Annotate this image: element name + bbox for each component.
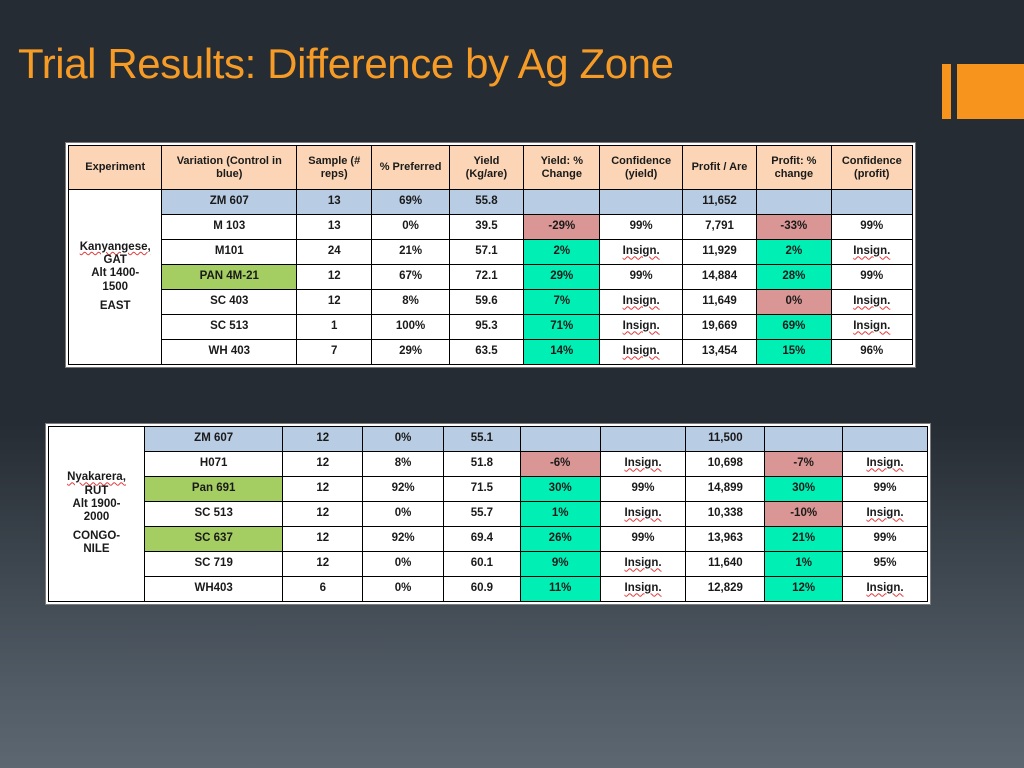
cell-yield-pct-change: 14% xyxy=(524,340,600,365)
cell-profit-per-are: 12,829 xyxy=(686,577,765,602)
cell-variation: WH 403 xyxy=(162,340,297,365)
cell-yield-pct-change: 9% xyxy=(520,552,600,577)
cell-percent-preferred: 92% xyxy=(363,477,444,502)
cell-yield: 69.4 xyxy=(444,527,521,552)
cell-variation: SC 513 xyxy=(162,315,297,340)
cell-percent-preferred: 0% xyxy=(363,502,444,527)
cell-yield-pct-change: 7% xyxy=(524,290,600,315)
cell-percent-preferred: 92% xyxy=(363,527,444,552)
cell-sample: 24 xyxy=(297,240,372,265)
cell-confidence-profit: Insign. xyxy=(831,240,912,265)
experiment-label-cell: Nyakarera,RUTAlt 1900-2000 CONGO-NILE xyxy=(49,427,145,602)
cell-profit-pct-change: 15% xyxy=(757,340,831,365)
cell-sample: 13 xyxy=(297,215,372,240)
cell-profit-per-are: 10,698 xyxy=(686,452,765,477)
cell-confidence-yield: Insign. xyxy=(600,290,682,315)
cell-profit-pct-change: 1% xyxy=(765,552,843,577)
cell-sample: 12 xyxy=(283,452,363,477)
cell-sample: 1 xyxy=(297,315,372,340)
cell-profit-per-are: 10,338 xyxy=(686,502,765,527)
column-header-9: Confidence (profit) xyxy=(831,146,912,190)
cell-confidence-yield: Insign. xyxy=(600,552,686,577)
cell-confidence-profit: Insign. xyxy=(831,315,912,340)
cell-confidence-yield: Insign. xyxy=(600,452,686,477)
cell-profit-per-are: 11,929 xyxy=(682,240,756,265)
cell-profit-per-are: 19,669 xyxy=(682,315,756,340)
slide-decoration xyxy=(942,64,1024,119)
cell-yield: 63.5 xyxy=(449,340,523,365)
cell-confidence-yield: 99% xyxy=(600,477,686,502)
cell-yield-pct-change: 71% xyxy=(524,315,600,340)
cell-yield: 95.3 xyxy=(449,315,523,340)
cell-sample: 12 xyxy=(297,290,372,315)
cell-sample: 12 xyxy=(283,477,363,502)
column-header-8: Profit: % change xyxy=(757,146,831,190)
column-header-4: Yield (Kg/are) xyxy=(449,146,523,190)
cell-yield-pct-change: 11% xyxy=(520,577,600,602)
cell-variation: Pan 691 xyxy=(144,477,282,502)
cell-confidence-profit: 96% xyxy=(831,340,912,365)
cell-confidence-profit: Insign. xyxy=(843,577,928,602)
cell-profit-pct-change: 30% xyxy=(765,477,843,502)
cell-sample: 12 xyxy=(283,552,363,577)
table-header-row: ExperimentVariation (Control in blue)Sam… xyxy=(69,146,913,190)
cell-confidence-yield: 99% xyxy=(600,527,686,552)
cell-confidence-yield: Insign. xyxy=(600,340,682,365)
table-row[interactable]: PAN 4M-211267%72.129%99%14,88428%99% xyxy=(69,265,913,290)
cell-yield-pct-change xyxy=(524,190,600,215)
table-row[interactable]: SC 6371292%69.426%99%13,96321%99% xyxy=(49,527,928,552)
cell-yield-pct-change xyxy=(520,427,600,452)
table-row[interactable]: SC 719120%60.19%Insign.11,6401%95% xyxy=(49,552,928,577)
cell-yield: 60.1 xyxy=(444,552,521,577)
cell-profit-per-are: 14,899 xyxy=(686,477,765,502)
table-row[interactable]: SC 403128%59.67%Insign.11,6490%Insign. xyxy=(69,290,913,315)
cell-confidence-yield xyxy=(600,427,686,452)
cell-confidence-yield xyxy=(600,190,682,215)
cell-profit-pct-change: -7% xyxy=(765,452,843,477)
table-row[interactable]: WH 403729%63.514%Insign.13,45415%96% xyxy=(69,340,913,365)
cell-percent-preferred: 21% xyxy=(372,240,449,265)
cell-yield-pct-change: 29% xyxy=(524,265,600,290)
cell-percent-preferred: 29% xyxy=(372,340,449,365)
cell-profit-per-are: 13,454 xyxy=(682,340,756,365)
cell-sample: 12 xyxy=(283,527,363,552)
cell-confidence-profit: 99% xyxy=(843,527,928,552)
cell-percent-preferred: 0% xyxy=(372,215,449,240)
cell-confidence-yield: 99% xyxy=(600,215,682,240)
cell-confidence-yield: Insign. xyxy=(600,577,686,602)
cell-confidence-profit: 99% xyxy=(831,215,912,240)
table-row[interactable]: Pan 6911292%71.530%99%14,89930%99% xyxy=(49,477,928,502)
cell-variation: WH403 xyxy=(144,577,282,602)
cell-yield-pct-change: -6% xyxy=(520,452,600,477)
experiment-label-cell: Kanyangese,GATAlt 1400-1500 EAST xyxy=(69,190,162,365)
cell-profit-pct-change xyxy=(765,427,843,452)
cell-yield-pct-change: 26% xyxy=(520,527,600,552)
cell-profit-per-are: 7,791 xyxy=(682,215,756,240)
cell-variation: SC 719 xyxy=(144,552,282,577)
cell-percent-preferred: 0% xyxy=(363,552,444,577)
cell-profit-pct-change xyxy=(757,190,831,215)
cell-profit-per-are: 11,652 xyxy=(682,190,756,215)
cell-yield: 60.9 xyxy=(444,577,521,602)
cell-profit-pct-change: 28% xyxy=(757,265,831,290)
cell-variation: H071 xyxy=(144,452,282,477)
table-row[interactable]: SC 513120%55.71%Insign.10,338-10%Insign. xyxy=(49,502,928,527)
cell-sample: 7 xyxy=(297,340,372,365)
cell-yield: 55.1 xyxy=(444,427,521,452)
table-row[interactable]: M 103130%39.5-29%99%7,791-33%99% xyxy=(69,215,913,240)
cell-variation: M 103 xyxy=(162,215,297,240)
cell-yield: 55.7 xyxy=(444,502,521,527)
cell-confidence-profit: Insign. xyxy=(843,452,928,477)
cell-percent-preferred: 69% xyxy=(372,190,449,215)
column-header-1: Variation (Control in blue) xyxy=(162,146,297,190)
cell-percent-preferred: 8% xyxy=(372,290,449,315)
table-row[interactable]: Kanyangese,GATAlt 1400-1500 EASTZM 60713… xyxy=(69,190,913,215)
cell-profit-pct-change: 12% xyxy=(765,577,843,602)
column-header-0: Experiment xyxy=(69,146,162,190)
cell-confidence-profit: 99% xyxy=(843,477,928,502)
table-row[interactable]: H071128%51.8-6%Insign.10,698-7%Insign. xyxy=(49,452,928,477)
cell-variation: ZM 607 xyxy=(144,427,282,452)
cell-yield-pct-change: 1% xyxy=(520,502,600,527)
column-header-6: Confidence (yield) xyxy=(600,146,682,190)
cell-confidence-profit: 99% xyxy=(831,265,912,290)
cell-profit-pct-change: -10% xyxy=(765,502,843,527)
cell-yield: 59.6 xyxy=(449,290,523,315)
cell-percent-preferred: 0% xyxy=(363,577,444,602)
orange-accent-bar xyxy=(942,64,951,119)
cell-profit-pct-change: 69% xyxy=(757,315,831,340)
cell-variation: SC 403 xyxy=(162,290,297,315)
cell-yield: 55.8 xyxy=(449,190,523,215)
cell-sample: 12 xyxy=(297,265,372,290)
cell-sample: 6 xyxy=(283,577,363,602)
cell-sample: 12 xyxy=(283,427,363,452)
table-row[interactable]: WH40360%60.911%Insign.12,82912%Insign. xyxy=(49,577,928,602)
cell-sample: 12 xyxy=(283,502,363,527)
results-table-kanyangese: ExperimentVariation (Control in blue)Sam… xyxy=(65,142,916,368)
cell-profit-per-are: 13,963 xyxy=(686,527,765,552)
cell-yield-pct-change: 2% xyxy=(524,240,600,265)
column-header-2: Sample (# reps) xyxy=(297,146,372,190)
cell-sample: 13 xyxy=(297,190,372,215)
cell-confidence-profit: 95% xyxy=(843,552,928,577)
cell-variation: SC 513 xyxy=(144,502,282,527)
cell-profit-pct-change: -33% xyxy=(757,215,831,240)
cell-yield-pct-change: -29% xyxy=(524,215,600,240)
results-table-nyakarera: Nyakarera,RUTAlt 1900-2000 CONGO-NILEZM … xyxy=(45,423,931,605)
table-grid: Nyakarera,RUTAlt 1900-2000 CONGO-NILEZM … xyxy=(48,426,928,602)
cell-confidence-profit: Insign. xyxy=(831,290,912,315)
cell-percent-preferred: 8% xyxy=(363,452,444,477)
cell-profit-pct-change: 2% xyxy=(757,240,831,265)
cell-yield: 71.5 xyxy=(444,477,521,502)
cell-confidence-yield: Insign. xyxy=(600,315,682,340)
cell-variation: PAN 4M-21 xyxy=(162,265,297,290)
table-row[interactable]: Nyakarera,RUTAlt 1900-2000 CONGO-NILEZM … xyxy=(49,427,928,452)
cell-confidence-yield: Insign. xyxy=(600,502,686,527)
cell-profit-per-are: 11,649 xyxy=(682,290,756,315)
cell-percent-preferred: 100% xyxy=(372,315,449,340)
column-header-5: Yield: % Change xyxy=(524,146,600,190)
cell-yield: 39.5 xyxy=(449,215,523,240)
cell-yield: 51.8 xyxy=(444,452,521,477)
cell-variation: M101 xyxy=(162,240,297,265)
cell-yield-pct-change: 30% xyxy=(520,477,600,502)
table-grid: ExperimentVariation (Control in blue)Sam… xyxy=(68,145,913,365)
cell-confidence-yield: 99% xyxy=(600,265,682,290)
cell-profit-per-are: 11,500 xyxy=(686,427,765,452)
cell-profit-pct-change: 0% xyxy=(757,290,831,315)
page-title: Trial Results: Difference by Ag Zone xyxy=(18,40,674,88)
cell-percent-preferred: 0% xyxy=(363,427,444,452)
orange-accent-block xyxy=(957,64,1024,119)
column-header-7: Profit / Are xyxy=(682,146,756,190)
cell-confidence-profit: Insign. xyxy=(843,502,928,527)
table-row[interactable]: SC 5131100%95.371%Insign.19,66969%Insign… xyxy=(69,315,913,340)
cell-confidence-profit xyxy=(831,190,912,215)
cell-confidence-yield: Insign. xyxy=(600,240,682,265)
cell-profit-per-are: 14,884 xyxy=(682,265,756,290)
cell-profit-pct-change: 21% xyxy=(765,527,843,552)
table-row[interactable]: M1012421%57.12%Insign.11,9292%Insign. xyxy=(69,240,913,265)
cell-yield: 57.1 xyxy=(449,240,523,265)
cell-variation: ZM 607 xyxy=(162,190,297,215)
cell-percent-preferred: 67% xyxy=(372,265,449,290)
cell-variation: SC 637 xyxy=(144,527,282,552)
column-header-3: % Preferred xyxy=(372,146,449,190)
cell-yield: 72.1 xyxy=(449,265,523,290)
cell-profit-per-are: 11,640 xyxy=(686,552,765,577)
cell-confidence-profit xyxy=(843,427,928,452)
